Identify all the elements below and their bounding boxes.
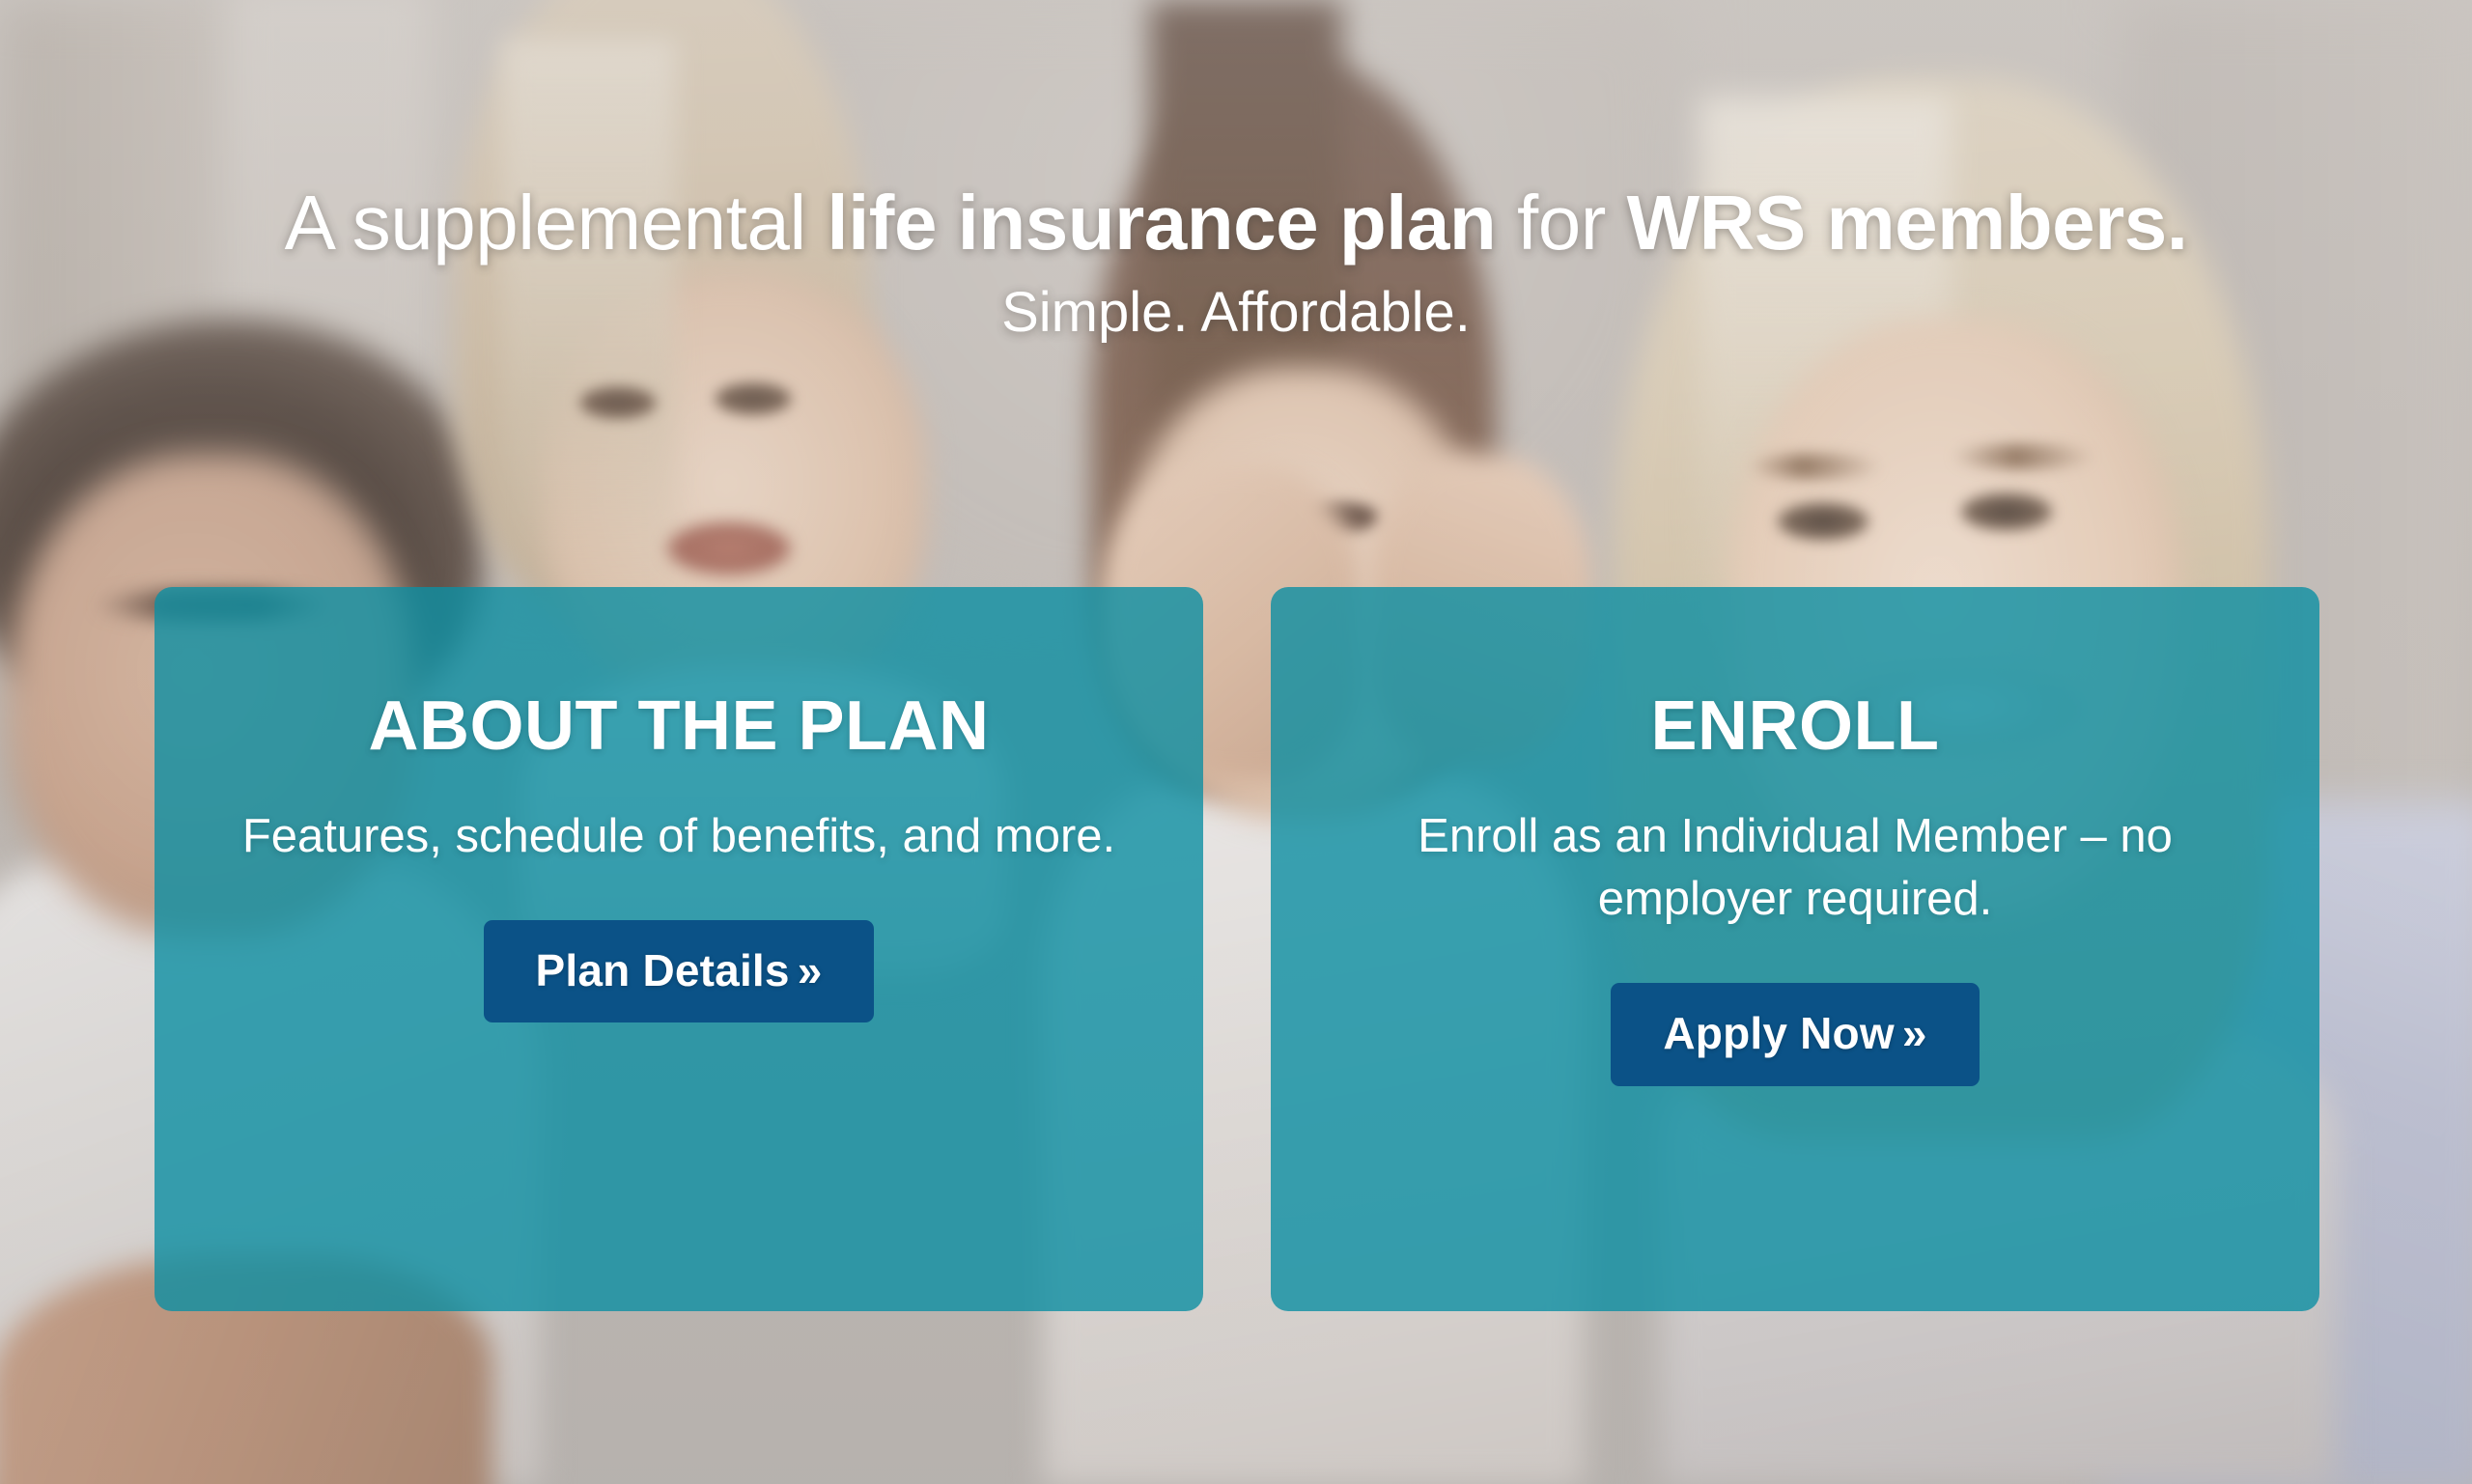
headline-segment-1: A supplemental: [285, 180, 828, 266]
card-enroll-description: Enroll as an Individual Member – no empl…: [1317, 761, 2273, 931]
apply-now-button[interactable]: Apply Now»: [1611, 983, 1979, 1085]
hero-headline: A supplemental life insurance plan for W…: [0, 182, 2472, 265]
hero-text-block: A supplemental life insurance plan for W…: [0, 182, 2472, 343]
headline-segment-4-bold: WRS members.: [1627, 180, 2188, 266]
card-about-the-plan-title: ABOUT THE PLAN: [369, 587, 990, 761]
card-enroll-title: ENROLL: [1651, 587, 1940, 761]
hero-cards-row: ABOUT THE PLAN Features, schedule of ben…: [154, 587, 2319, 1311]
headline-segment-2-bold: life insurance plan: [827, 180, 1496, 266]
double-chevron-right-icon: »: [1895, 1008, 1927, 1058]
headline-segment-3: for: [1496, 180, 1626, 266]
card-about-the-plan[interactable]: ABOUT THE PLAN Features, schedule of ben…: [154, 587, 1203, 1311]
apply-now-button-label: Apply Now: [1663, 1008, 1894, 1058]
plan-details-button[interactable]: Plan Details»: [484, 920, 875, 1022]
plan-details-button-label: Plan Details: [536, 945, 790, 995]
double-chevron-right-icon: »: [790, 945, 823, 995]
card-enroll[interactable]: ENROLL Enroll as an Individual Member – …: [1271, 587, 2319, 1311]
hero-banner: A supplemental life insurance plan for W…: [0, 0, 2472, 1484]
hero-subheadline: Simple. Affordable.: [0, 282, 2472, 344]
card-about-the-plan-description: Features, schedule of benefits, and more…: [242, 761, 1115, 868]
